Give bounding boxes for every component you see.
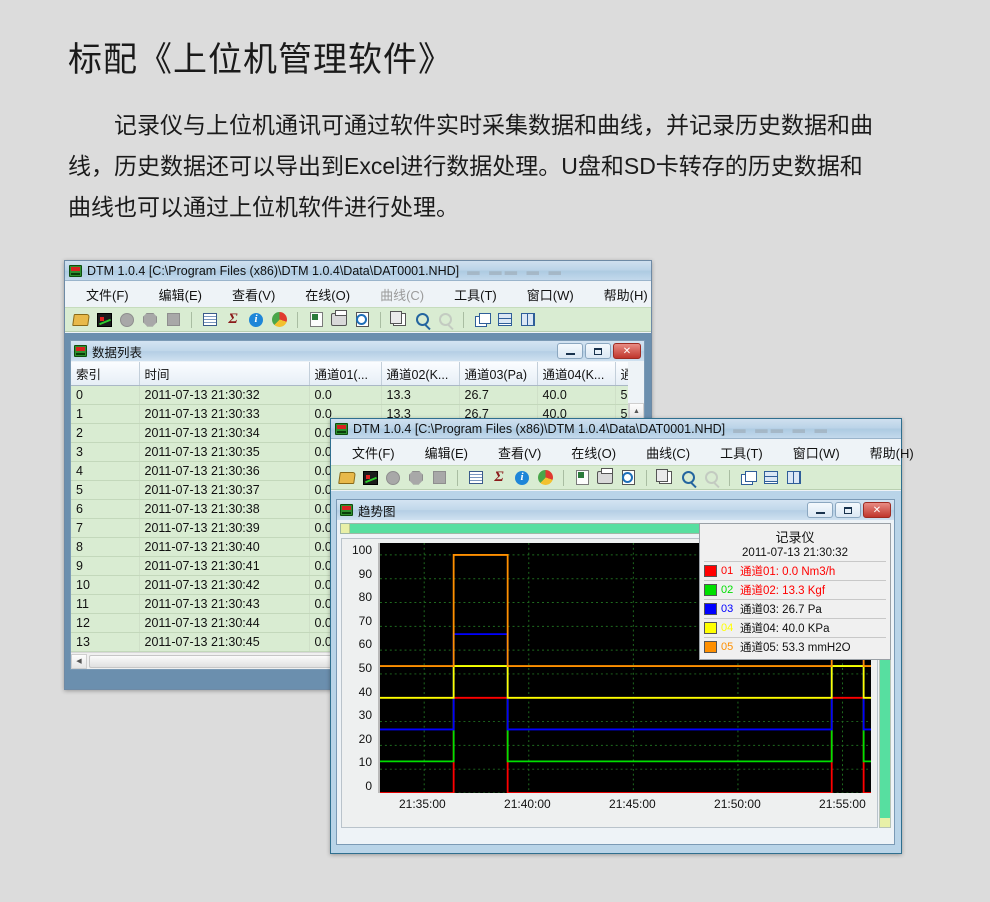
table-cell: 40.0 — [537, 386, 615, 405]
legend-channel-value: 通道05: 53.3 mmH2O — [740, 639, 851, 655]
legend-channel-number: 03 — [721, 603, 736, 615]
table-cell: 7 — [71, 519, 139, 538]
curve-chart-icon[interactable] — [94, 310, 114, 329]
table-cell: 2011-07-13 21:30:38 — [139, 500, 309, 519]
scroll-left-button[interactable]: ◀ — [71, 654, 87, 669]
range-handle-left[interactable] — [341, 524, 350, 533]
legend-color-swatch — [704, 603, 717, 615]
close-button[interactable]: ✕ — [613, 343, 641, 359]
zoom-in-icon[interactable] — [412, 310, 432, 329]
legend-color-swatch — [704, 584, 717, 596]
x-axis-ticks: 21:35:0021:40:0021:45:0021:50:0021:55:00 — [378, 797, 871, 817]
sigma-statistics-icon[interactable]: Σ — [489, 468, 509, 487]
toolbar-separator — [380, 312, 381, 328]
mdi-client-area: 趋势图 ✕ 1009080706050403020100 21:35:0021:… — [331, 491, 901, 853]
y-tick-label: 80 — [359, 590, 376, 604]
table-cell: 2011-07-13 21:30:45 — [139, 633, 309, 652]
menu-item-help[interactable]: 帮助(H) — [861, 441, 923, 464]
maximize-button[interactable] — [835, 502, 861, 518]
zoom-in-icon[interactable] — [678, 468, 698, 487]
table-cell: 0 — [71, 386, 139, 405]
legend-channel-value: 通道01: 0.0 Nm3/h — [740, 563, 835, 579]
table-cell: 2011-07-13 21:30:33 — [139, 405, 309, 424]
legend-channel-number: 02 — [721, 584, 736, 596]
menu-item-edit[interactable]: 编辑(E) — [416, 441, 477, 464]
menu-item-curve[interactable]: 曲线(C) — [371, 283, 433, 306]
menu-item-file[interactable]: 文件(F) — [77, 283, 138, 306]
print-icon[interactable] — [595, 468, 615, 487]
table-cell: 2011-07-13 21:30:35 — [139, 443, 309, 462]
table-cell: 10 — [71, 576, 139, 595]
menu-item-online[interactable]: 在线(O) — [562, 441, 625, 464]
print-icon[interactable] — [329, 310, 349, 329]
table-cell: 2 — [71, 424, 139, 443]
dtm-app-icon — [69, 265, 82, 277]
legend-channel-number: 04 — [721, 622, 736, 634]
tile-horizontal-icon[interactable] — [761, 468, 781, 487]
data-list-title: 数据列表 — [92, 342, 142, 361]
table-cell: 2011-07-13 21:30:36 — [139, 462, 309, 481]
print-preview-icon[interactable] — [352, 310, 372, 329]
table-cell: 3 — [71, 443, 139, 462]
table-cell: 2011-07-13 21:30:40 — [139, 538, 309, 557]
table-cell: 13.3 — [381, 386, 459, 405]
data-grid-icon[interactable] — [200, 310, 220, 329]
trend-title: 趋势图 — [358, 501, 396, 520]
menu-item-tools[interactable]: 工具(T) — [711, 441, 772, 464]
trend-body: 1009080706050403020100 21:35:0021:40:002… — [337, 520, 894, 844]
print-preview-icon[interactable] — [618, 468, 638, 487]
dtm-main-window-front[interactable]: DTM 1.0.4 [C:\Program Files (x86)\DTM 1.… — [330, 418, 902, 854]
export-excel-icon[interactable] — [572, 468, 592, 487]
window-titlebar[interactable]: DTM 1.0.4 [C:\Program Files (x86)\DTM 1.… — [65, 261, 651, 281]
y-tick-label: 100 — [352, 543, 376, 557]
y-axis-ticks: 1009080706050403020100 — [342, 543, 376, 793]
column-header-0[interactable]: 索引 — [71, 362, 139, 386]
table-header-row[interactable]: 索引时间通道01(...通道02(K...通道03(Pa)通道04(K...通道… — [71, 362, 628, 386]
legend-channel-value: 通道04: 40.0 KPa — [740, 620, 830, 636]
tile-vertical-icon[interactable] — [784, 468, 804, 487]
x-tick-label: 21:45:00 — [609, 797, 656, 811]
toolbar[interactable]: Σ i — [65, 307, 651, 332]
column-header-1[interactable]: 时间 — [139, 362, 309, 386]
legend-row-01: 01通道01: 0.0 Nm3/h — [704, 561, 886, 580]
data-grid-icon[interactable] — [466, 468, 486, 487]
titlebar-ghost-text: ▬ ▬▬ ▬ ▬ — [467, 264, 564, 278]
menu-item-view[interactable]: 查看(V) — [223, 283, 284, 306]
stop-square-icon — [429, 468, 449, 487]
page-title: 标配《上位机管理软件》 — [68, 32, 453, 81]
dtm-child-icon — [74, 345, 87, 357]
table-cell: 12 — [71, 614, 139, 633]
toolbar-separator — [463, 312, 464, 328]
y-tick-label: 60 — [359, 637, 376, 651]
x-tick-label: 21:55:00 — [819, 797, 866, 811]
legend-row-04: 04通道04: 40.0 KPa — [704, 618, 886, 637]
scroll-up-button[interactable]: ▲ — [629, 403, 644, 419]
data-list-titlebar[interactable]: 数据列表 ✕ — [71, 341, 644, 361]
record-circle-icon — [117, 310, 137, 329]
menu-item-curve[interactable]: 曲线(C) — [637, 441, 699, 464]
open-folder-icon[interactable] — [71, 310, 91, 329]
y-tick-label: 20 — [359, 732, 376, 746]
menu-item-view[interactable]: 查看(V) — [489, 441, 550, 464]
column-header-2[interactable]: 通道01(... — [309, 362, 381, 386]
minimize-button[interactable] — [807, 502, 833, 518]
toolbar[interactable]: Σ i — [331, 465, 901, 490]
info-icon[interactable]: i — [246, 310, 266, 329]
copy-icon[interactable] — [655, 468, 675, 487]
page-description: 记录仪与上位机通讯可通过软件实时采集数据和曲线，并记录历史数据和曲线，历史数据还… — [68, 105, 878, 228]
toolbar-separator — [191, 312, 192, 328]
x-tick-label: 21:35:00 — [399, 797, 446, 811]
y-tick-label: 10 — [359, 755, 376, 769]
window-title: DTM 1.0.4 [C:\Program Files (x86)\DTM 1.… — [87, 264, 459, 278]
legend-color-swatch — [704, 641, 717, 653]
open-folder-icon[interactable] — [337, 468, 357, 487]
dtm-child-icon — [340, 504, 353, 516]
menu-bar[interactable]: 文件(F) 编辑(E) 查看(V) 在线(O) 曲线(C) 工具(T) 窗口(W… — [331, 439, 901, 465]
menu-item-online[interactable]: 在线(O) — [296, 283, 359, 306]
column-header-4[interactable]: 通道03(Pa) — [459, 362, 537, 386]
column-header-6[interactable]: 通道05(... — [615, 362, 628, 386]
y-tick-label: 40 — [359, 685, 376, 699]
y-tick-label: 70 — [359, 614, 376, 628]
table-cell: 4 — [71, 462, 139, 481]
trend-scroll-cap-bottom[interactable] — [880, 818, 890, 827]
table-row[interactable]: 02011-07-13 21:30:320.013.326.740.053.3 — [71, 386, 628, 405]
record-circle-icon — [383, 468, 403, 487]
curve-chart-icon[interactable] — [360, 468, 380, 487]
column-header-5[interactable]: 通道04(K... — [537, 362, 615, 386]
tile-horizontal-icon[interactable] — [495, 310, 515, 329]
menu-item-edit[interactable]: 编辑(E) — [150, 283, 211, 306]
trend-titlebar[interactable]: 趋势图 ✕ — [337, 500, 894, 520]
titlebar-ghost-text: ▬ ▬▬ ▬ ▬ — [733, 422, 830, 436]
zoom-out-icon — [435, 310, 455, 329]
table-cell: 5 — [71, 481, 139, 500]
copy-icon[interactable] — [389, 310, 409, 329]
y-tick-label: 30 — [359, 708, 376, 722]
toolbar-separator — [646, 470, 647, 486]
legend-channel-value: 通道02: 13.3 Kgf — [740, 582, 825, 598]
info-icon[interactable]: i — [512, 468, 532, 487]
pie-chart-icon[interactable] — [535, 468, 555, 487]
cascade-windows-icon[interactable] — [472, 310, 492, 329]
menu-item-window[interactable]: 窗口(W) — [784, 441, 849, 464]
legend-device-name: 记录仪 — [704, 526, 886, 546]
legend-row-02: 02通道02: 13.3 Kgf — [704, 580, 886, 599]
stop-square-icon — [163, 310, 183, 329]
sigma-statistics-icon[interactable]: Σ — [223, 310, 243, 329]
window-titlebar[interactable]: DTM 1.0.4 [C:\Program Files (x86)\DTM 1.… — [331, 419, 901, 439]
table-cell: 2011-07-13 21:30:44 — [139, 614, 309, 633]
close-button[interactable]: ✕ — [863, 502, 891, 518]
y-tick-label: 90 — [359, 567, 376, 581]
table-cell: 13 — [71, 633, 139, 652]
window-title: DTM 1.0.4 [C:\Program Files (x86)\DTM 1.… — [353, 422, 725, 436]
cascade-windows-icon[interactable] — [738, 468, 758, 487]
menu-bar[interactable]: 文件(F) 编辑(E) 查看(V) 在线(O) 曲线(C) 工具(T) 窗口(W… — [65, 281, 651, 307]
y-tick-label: 50 — [359, 661, 376, 675]
x-tick-label: 21:50:00 — [714, 797, 761, 811]
table-cell: 2011-07-13 21:30:43 — [139, 595, 309, 614]
table-cell: 0.0 — [309, 386, 381, 405]
stop-octagon-icon — [406, 468, 426, 487]
toolbar-separator — [457, 470, 458, 486]
table-cell: 53.3 — [615, 386, 628, 405]
stop-octagon-icon — [140, 310, 160, 329]
legend-row-03: 03通道03: 26.7 Pa — [704, 599, 886, 618]
table-cell: 11 — [71, 595, 139, 614]
table-cell: 9 — [71, 557, 139, 576]
table-cell: 2011-07-13 21:30:39 — [139, 519, 309, 538]
table-cell: 8 — [71, 538, 139, 557]
menu-item-file[interactable]: 文件(F) — [343, 441, 404, 464]
table-cell: 26.7 — [459, 386, 537, 405]
column-header-3[interactable]: 通道02(K... — [381, 362, 459, 386]
minimize-button[interactable] — [557, 343, 583, 359]
legend-color-swatch — [704, 565, 717, 577]
chart-legend: 记录仪 2011-07-13 21:30:32 01通道01: 0.0 Nm3/… — [699, 523, 891, 660]
legend-timestamp: 2011-07-13 21:30:32 — [704, 546, 886, 561]
toolbar-separator — [297, 312, 298, 328]
toolbar-separator — [563, 470, 564, 486]
tile-vertical-icon[interactable] — [518, 310, 538, 329]
table-cell: 1 — [71, 405, 139, 424]
menu-item-window[interactable]: 窗口(W) — [518, 283, 583, 306]
zoom-out-icon — [701, 468, 721, 487]
table-cell: 2011-07-13 21:30:37 — [139, 481, 309, 500]
table-cell: 6 — [71, 500, 139, 519]
table-cell: 2011-07-13 21:30:34 — [139, 424, 309, 443]
trend-chart-window[interactable]: 趋势图 ✕ 1009080706050403020100 21:35:0021:… — [336, 499, 895, 845]
series-通道04 — [380, 666, 871, 698]
table-cell: 2011-07-13 21:30:42 — [139, 576, 309, 595]
y-tick-label: 0 — [365, 779, 376, 793]
table-cell: 2011-07-13 21:30:32 — [139, 386, 309, 405]
export-excel-icon[interactable] — [306, 310, 326, 329]
maximize-button[interactable] — [585, 343, 611, 359]
pie-chart-icon[interactable] — [269, 310, 289, 329]
table-cell: 2011-07-13 21:30:41 — [139, 557, 309, 576]
dtm-app-icon — [335, 423, 348, 435]
legend-color-swatch — [704, 622, 717, 634]
menu-item-help[interactable]: 帮助(H) — [595, 283, 657, 306]
legend-channel-value: 通道03: 26.7 Pa — [740, 601, 822, 617]
menu-item-tools[interactable]: 工具(T) — [445, 283, 506, 306]
toolbar-separator — [729, 470, 730, 486]
legend-channel-number: 01 — [721, 565, 736, 577]
legend-row-05: 05通道05: 53.3 mmH2O — [704, 637, 886, 656]
legend-channel-number: 05 — [721, 641, 736, 653]
x-tick-label: 21:40:00 — [504, 797, 551, 811]
